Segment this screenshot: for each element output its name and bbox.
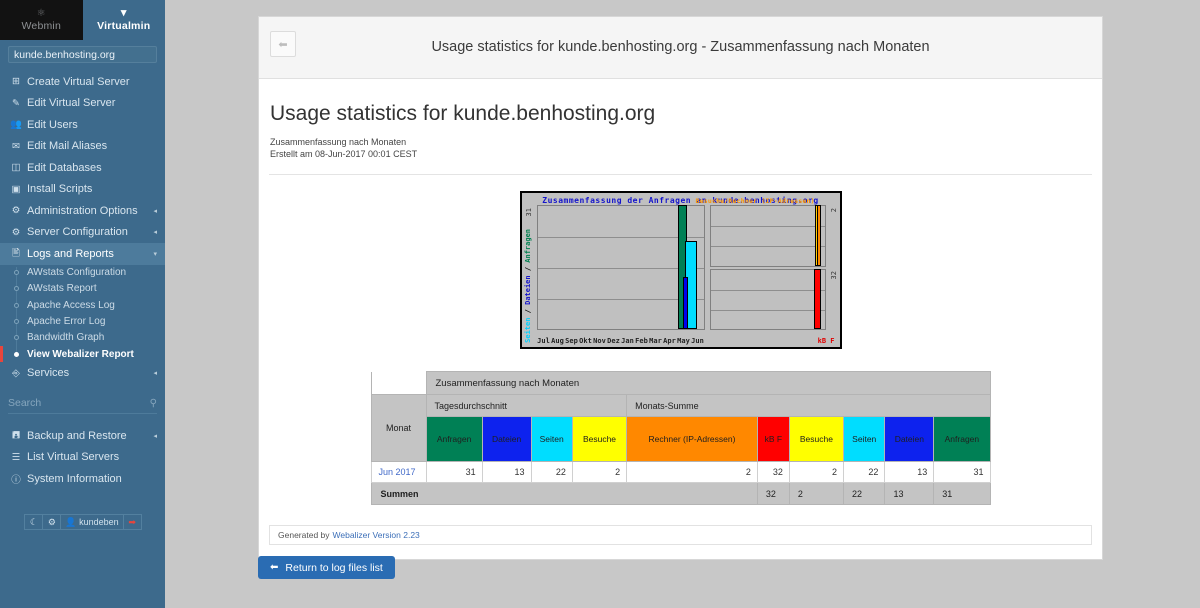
sidebar-divider — [0, 418, 165, 425]
page-title: Usage statistics for kunde.benhosting.or… — [259, 37, 1102, 58]
col-seiten-avg: Seiten — [531, 417, 572, 462]
cell-besuche-total: 2 — [789, 462, 843, 483]
col-anfragen-total: Anfragen — [934, 417, 990, 462]
back-button[interactable]: ⬅ — [270, 31, 296, 57]
month-tick: Jul — [537, 337, 550, 345]
logout-button[interactable]: ➡ — [123, 514, 142, 530]
chevron-left-icon: ◂ — [153, 207, 157, 215]
col-anfragen-avg: Anfragen — [426, 417, 482, 462]
sidebar-item-apache-error-log[interactable]: Apache Error Log — [0, 313, 165, 329]
sidebar-nav-bottom: 🖪 Backup and Restore ◂ ☰ List Virtual Se… — [0, 425, 165, 490]
col-seiten-total: Seiten — [844, 417, 885, 462]
main-content: ⬅ Usage statistics for kunde.benhosting.… — [165, 0, 1200, 608]
cell-month[interactable]: Jun 2017 — [371, 462, 426, 483]
sidebar-item-awstats-configuration[interactable]: AWstats Configuration — [0, 265, 165, 281]
search-input[interactable]: Search ⚲ — [8, 394, 157, 414]
graph-plot-right-bottom — [710, 269, 826, 330]
sidebar-item-edit-virtual-server[interactable]: ✎ Edit Virtual Server — [0, 93, 165, 115]
sidebar-item-label: List Virtual Servers — [27, 451, 157, 463]
wrench-icon: ⚙ — [9, 205, 23, 216]
sidebar-item-view-webalizer-report[interactable]: View Webalizer Report — [0, 346, 165, 362]
sidebar-item-edit-mail-aliases[interactable]: ✉ Edit Mail Aliases — [0, 136, 165, 158]
cell-seiten-avg: 22 — [531, 462, 572, 483]
month-tick: Nov — [593, 337, 606, 345]
table-row: Jun 2017 31 13 22 2 2 32 2 22 13 31 — [371, 462, 990, 483]
sidebar-item-label: Services — [27, 367, 153, 379]
bar-kbf-jun — [814, 269, 821, 329]
sidebar: ⚛ Webmin ▾ Virtualmin kunde.benhosting.o… — [0, 0, 165, 608]
sidebar-item-label: Create Virtual Server — [27, 76, 157, 88]
gridline — [711, 290, 825, 291]
col-besuche-avg: Besuche — [572, 417, 626, 462]
report-subtitle-line1: Zusammenfassung nach Monaten — [270, 136, 1092, 148]
chevron-left-icon: ◂ — [153, 369, 157, 377]
sidebar-footer-toolbar: ☾ ⚙ 👤 kundeben ➡ — [0, 514, 165, 530]
totals-label: Summen — [371, 483, 757, 505]
sidebar-subitem-label: View Webalizer Report — [27, 349, 134, 360]
generated-by-text: Generated by — [278, 530, 330, 540]
sidebar-item-apache-access-log[interactable]: Apache Access Log — [0, 297, 165, 313]
page-header: ⬅ Usage statistics for kunde.benhosting.… — [259, 17, 1102, 79]
graph-left-axis-max: 31 — [525, 208, 533, 216]
table-spacer-cell — [371, 372, 426, 395]
table-caption-row: Zusammenfassung nach Monaten — [371, 372, 990, 395]
axis-part-dateien: Dateien — [524, 275, 532, 305]
month-tick: Apr — [663, 337, 676, 345]
month-tick: Okt — [579, 337, 592, 345]
month-tick: Mar — [649, 337, 662, 345]
graph-month-axis: Jul Aug Sep Okt Nov Dez Jan Feb Mar Apr … — [537, 337, 705, 345]
sidebar-item-label: Install Scripts — [27, 183, 157, 195]
total-anfragen: 31 — [934, 483, 990, 505]
domain-select-value: kunde.benhosting.org — [14, 49, 115, 61]
bullet-icon — [14, 303, 19, 308]
search-placeholder: Search — [8, 397, 41, 409]
edit-square-icon: ✎ — [9, 98, 23, 109]
tab-virtualmin-label: Virtualmin — [97, 20, 150, 32]
table-group-monats-summe: Monats-Summe — [627, 395, 990, 417]
sidebar-item-administration-options[interactable]: ⚙ Administration Options ◂ — [0, 200, 165, 222]
chevron-down-icon: ▾ — [153, 250, 157, 258]
graph-kbf-label: kB F — [818, 337, 835, 345]
axis-part-anfragen: Anfragen — [524, 229, 532, 263]
month-tick: Sep — [565, 337, 578, 345]
domain-select[interactable]: kunde.benhosting.org — [8, 46, 157, 63]
sidebar-item-label: Logs and Reports — [27, 248, 153, 260]
col-rechner-total: Rechner (IP-Adressen) — [627, 417, 758, 462]
webalizer-monthly-graph: Zusammenfassung der Anfragen an kunde.be… — [520, 191, 842, 349]
graph-right-axis-top-max: 2 — [830, 208, 838, 212]
divider — [269, 174, 1092, 175]
file-lines-icon: 🖹 — [9, 246, 23, 262]
table-column-header-row: Anfragen Dateien Seiten Besuche Rechner … — [371, 417, 990, 462]
save-icon: 🖪 — [9, 428, 23, 444]
table-caption: Zusammenfassung nach Monaten — [426, 372, 990, 395]
sidebar-item-install-scripts[interactable]: ▣ Install Scripts — [0, 179, 165, 201]
sidebar-nav-services: ⎆ Services ◂ — [0, 362, 165, 384]
users-icon: 👥 — [9, 119, 23, 130]
sidebar-item-list-virtual-servers[interactable]: ☰ List Virtual Servers — [0, 446, 165, 468]
sidebar-subitem-label: Apache Access Log — [27, 300, 115, 311]
sidebar-subitem-label: AWstats Report — [27, 283, 97, 294]
sidebar-item-label: Edit Mail Aliases — [27, 140, 157, 152]
monthly-summary-table: Zusammenfassung nach Monaten Monat Tages… — [371, 371, 991, 505]
bar-dateien-jun — [683, 277, 688, 329]
col-dateien-avg: Dateien — [482, 417, 531, 462]
col-besuche-total: Besuche — [789, 417, 843, 462]
report-subtitle-line2: Erstellt am 08-Jun-2017 00:01 CEST — [270, 148, 1092, 160]
cell-anfragen-total: 31 — [934, 462, 990, 483]
graph-plot-left — [537, 205, 705, 330]
sidebar-submenu-logs: AWstats Configuration AWstats Report Apa… — [0, 265, 165, 363]
plus-box-icon: ⊞ — [9, 76, 23, 87]
webalizer-version-link[interactable]: Webalizer Version 2.23 — [333, 530, 420, 540]
cell-rechner-total: 2 — [627, 462, 758, 483]
logout-icon: ➡ — [128, 517, 136, 528]
brand-tabs: ⚛ Webmin ▾ Virtualmin — [0, 0, 165, 40]
list-icon: ☰ — [9, 452, 23, 463]
sidebar-item-backup-and-restore[interactable]: 🖪 Backup and Restore ◂ — [0, 425, 165, 447]
cell-dateien-total: 13 — [885, 462, 934, 483]
cell-besuche-avg: 2 — [572, 462, 626, 483]
webalizer-graph-wrapper: Zusammenfassung der Anfragen an kunde.be… — [269, 191, 1092, 349]
gridline — [711, 310, 825, 311]
col-kbf-total: kB F — [757, 417, 789, 462]
bullet-icon — [14, 286, 19, 291]
sidebar-item-label: Edit Users — [27, 119, 157, 131]
bar-rechner-jun — [817, 205, 821, 266]
sidebar-item-logs-and-reports[interactable]: 🖹 Logs and Reports ▾ — [0, 243, 165, 265]
cell-anfragen-avg: 31 — [426, 462, 482, 483]
database-icon: ◫ — [9, 162, 23, 173]
page-panel: ⬅ Usage statistics for kunde.benhosting.… — [258, 16, 1103, 560]
table-group-row: Monat Tagesdurchschnitt Monats-Summe — [371, 395, 990, 417]
sidebar-subitem-label: Bandwidth Graph — [27, 332, 104, 343]
bullet-icon — [14, 319, 19, 324]
search-icon: ⚲ — [150, 398, 157, 409]
settings-button[interactable]: ⚙ — [42, 514, 61, 530]
chevron-left-icon: ◂ — [153, 432, 157, 440]
bullet-icon — [14, 335, 19, 340]
return-to-log-files-button[interactable]: ⬅ Return to log files list — [258, 556, 395, 579]
sidebar-item-label: Backup and Restore — [27, 430, 153, 442]
sidebar-item-system-information[interactable]: ⓘ System Information — [0, 468, 165, 490]
gears-icon: ⚙ — [9, 227, 23, 238]
user-button-label: kundeben — [79, 517, 119, 527]
axis-sep: / — [524, 263, 532, 276]
sidebar-item-label: Edit Databases — [27, 162, 157, 174]
sidebar-item-server-configuration[interactable]: ⚙ Server Configuration ◂ — [0, 222, 165, 244]
sidebar-item-bandwidth-graph[interactable]: Bandwidth Graph — [0, 330, 165, 346]
bullet-icon — [14, 352, 19, 357]
envelope-icon: ✉ — [9, 141, 23, 152]
sidebar-item-services[interactable]: ⎆ Services ◂ — [0, 362, 165, 384]
sidebar-item-label: System Information — [27, 473, 157, 485]
sidebar-item-edit-databases[interactable]: ◫ Edit Databases — [0, 157, 165, 179]
webmin-logo-icon: ⚛ — [37, 8, 46, 19]
return-button-label: Return to log files list — [285, 562, 382, 574]
month-tick: Feb — [635, 337, 648, 345]
month-tick: Jun — [691, 337, 704, 345]
sidebar-subitem-label: Apache Error Log — [27, 316, 105, 327]
sidebar-subitem-label: AWstats Configuration — [27, 267, 126, 278]
table-totals-row: Summen 32 2 22 13 31 — [371, 483, 990, 505]
generated-by-footer: Generated by Webalizer Version 2.23 — [269, 525, 1092, 545]
gears-icon: ⚙ — [48, 517, 56, 528]
total-kbf: 32 — [757, 483, 789, 505]
theme-toggle-button[interactable]: ☾ — [24, 514, 43, 530]
sidebar-item-awstats-report[interactable]: AWstats Report — [0, 281, 165, 297]
report-title: Usage statistics for kunde.benhosting.or… — [269, 102, 1092, 126]
sidebar-item-label: Administration Options — [27, 205, 153, 217]
report-subtitle: Zusammenfassung nach Monaten Erstellt am… — [269, 136, 1092, 160]
graph-right-axis-bottom-max: 32 — [830, 271, 838, 279]
month-tick: Aug — [551, 337, 564, 345]
plug-icon: ⎆ — [9, 368, 23, 379]
graph-plot-right-top — [710, 205, 826, 267]
sidebar-item-label: Server Configuration — [27, 226, 153, 238]
webmin-virtualmin-app: ⚛ Webmin ▾ Virtualmin kunde.benhosting.o… — [0, 0, 1200, 608]
gridline — [711, 226, 825, 227]
month-tick: Dez — [607, 337, 620, 345]
graph-title-overlay: Besuche/Rechner (IP-Adressen) — [696, 197, 815, 205]
bullet-icon — [14, 270, 19, 275]
user-button[interactable]: 👤 kundeben — [60, 514, 123, 530]
summary-table-wrapper: Zusammenfassung nach Monaten Monat Tages… — [269, 371, 1092, 505]
total-dateien: 13 — [885, 483, 934, 505]
sidebar-nav-top: ⊞ Create Virtual Server ✎ Edit Virtual S… — [0, 71, 165, 265]
cell-kbf-total: 32 — [757, 462, 789, 483]
arrow-left-icon: ⬅ — [278, 38, 287, 51]
window-icon: ▣ — [9, 184, 23, 195]
gridline — [711, 246, 825, 247]
tab-virtualmin[interactable]: ▾ Virtualmin — [83, 0, 166, 40]
cell-dateien-avg: 13 — [482, 462, 531, 483]
cell-seiten-total: 22 — [844, 462, 885, 483]
total-seiten: 22 — [844, 483, 885, 505]
tab-webmin[interactable]: ⚛ Webmin — [0, 0, 83, 40]
table-group-tagesdurchschnitt: Tagesdurchschnitt — [426, 395, 627, 417]
chevron-down-icon: ▾ — [121, 8, 127, 19]
user-icon: 👤 — [65, 517, 76, 528]
month-tick: May — [677, 337, 690, 345]
sidebar-item-label: Edit Virtual Server — [27, 97, 157, 109]
moon-icon: ☾ — [30, 517, 38, 528]
page-body: Usage statistics for kunde.benhosting.or… — [259, 79, 1102, 559]
info-circle-icon: ⓘ — [9, 472, 23, 486]
arrow-left-icon: ⬅ — [270, 562, 278, 573]
tab-webmin-label: Webmin — [21, 20, 61, 32]
sidebar-item-edit-users[interactable]: 👥 Edit Users — [0, 114, 165, 136]
chevron-left-icon: ◂ — [153, 228, 157, 236]
sidebar-item-create-virtual-server[interactable]: ⊞ Create Virtual Server — [0, 71, 165, 93]
col-dateien-total: Dateien — [885, 417, 934, 462]
total-besuche: 2 — [789, 483, 843, 505]
axis-part-seiten: Seiten — [524, 318, 532, 343]
graph-left-axis-label: Seiten / Dateien / Anfragen — [524, 229, 532, 343]
axis-sep: / — [524, 305, 532, 318]
month-tick: Jan — [621, 337, 634, 345]
table-header-monat: Monat — [371, 395, 426, 462]
